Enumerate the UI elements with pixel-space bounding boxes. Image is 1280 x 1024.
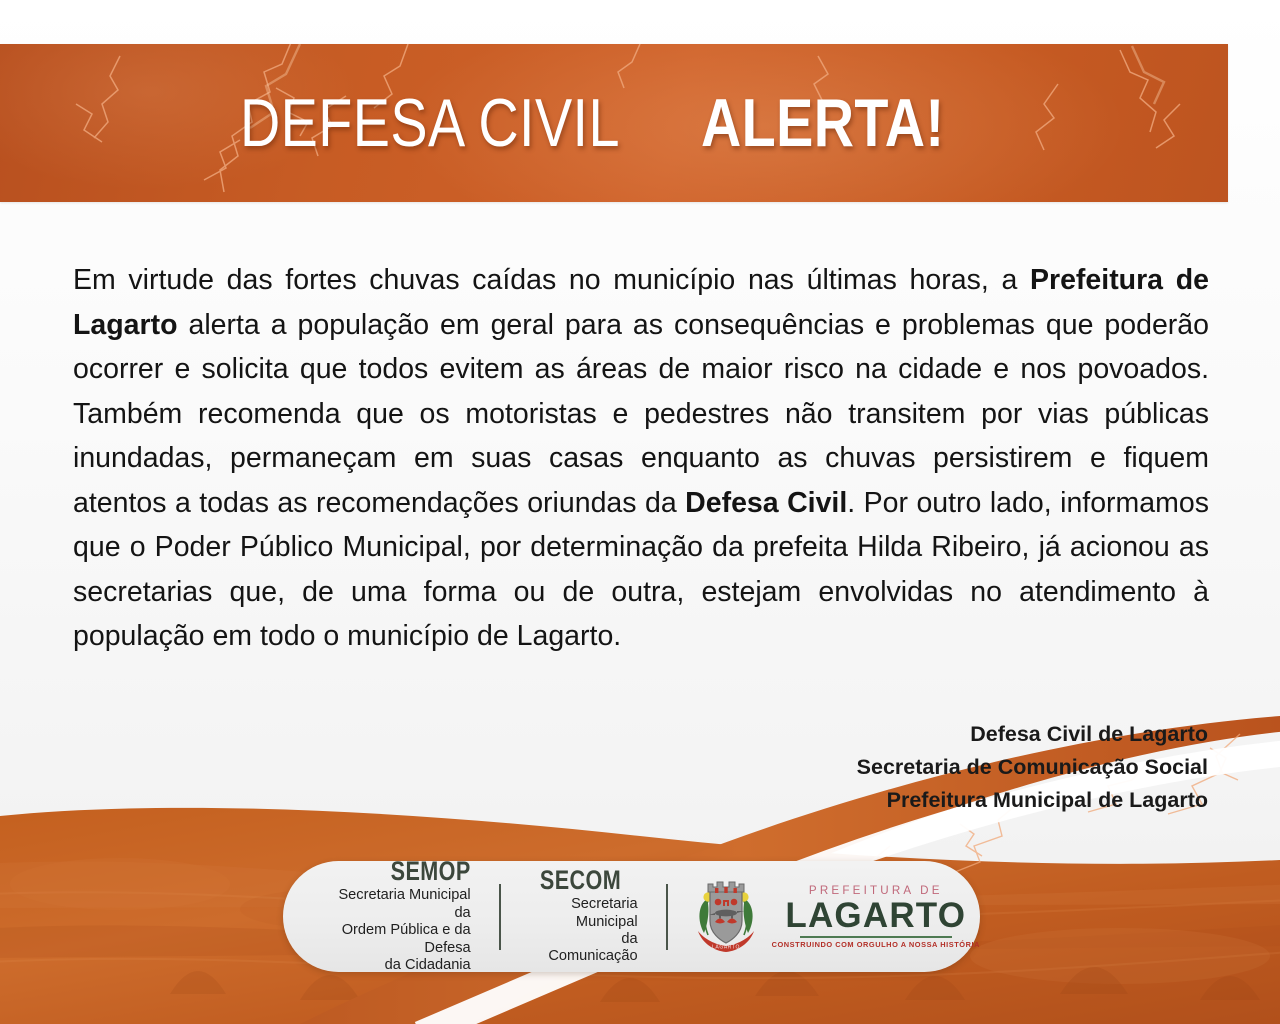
secom-acronym: SECOM <box>540 867 627 894</box>
svg-text:LAGARTO: LAGARTO <box>712 945 740 951</box>
secom-subtitle: Secretaria Municipal da Comunicação <box>529 896 638 966</box>
semop-acronym: SEMOP <box>353 858 471 885</box>
footer-logo-card: SEMOP Secretaria Municipal da Ordem Públ… <box>283 861 980 972</box>
footer-brand-group: SEMOP Secretaria Municipal da Ordem Públ… <box>283 861 980 972</box>
signature-line-3: Prefeitura Municipal de Lagarto <box>508 784 1208 817</box>
lagarto-logo-tagline: CONSTRUINDO COM ORGULHO A NOSSA HISTÓRIA <box>772 940 980 949</box>
page-title: DEFESA CIVILALERTA! <box>0 89 1228 157</box>
alert-poster: DEFESA CIVILALERTA! Em virtude das forte… <box>0 0 1280 1024</box>
lagarto-logo-name: LAGARTO <box>785 898 966 933</box>
alert-body-text: Em virtude das fortes chuvas caídas no m… <box>73 258 1209 659</box>
lagarto-logo-rule <box>800 936 952 938</box>
body-segment-1: Em virtude das fortes chuvas caídas no m… <box>73 264 1030 296</box>
signature-line-1: Defesa Civil de Lagarto <box>508 718 1208 751</box>
secom-brand-block: SECOM Secretaria Municipal da Comunicaçã… <box>513 867 654 966</box>
header-banner: DEFESA CIVILALERTA! <box>0 44 1228 202</box>
lagarto-wordmark-logo: PREFEITURA DE LAGARTO CONSTRUINDO COM OR… <box>772 884 980 949</box>
body-segment-4-bold: Defesa Civil <box>685 487 847 519</box>
coat-of-arms-svg: LAGARTO <box>694 875 758 953</box>
signature-line-2: Secretaria de Comunicação Social <box>508 751 1208 784</box>
semop-brand-block: SEMOP Secretaria Municipal da Ordem Públ… <box>307 858 487 974</box>
coat-of-arms-icon: LAGARTO <box>694 875 758 958</box>
divider-semop-secom <box>499 884 501 950</box>
signature-block: Defesa Civil de Lagarto Secretaria de Co… <box>508 718 1208 817</box>
page-title-light: DEFESA CIVIL <box>240 89 620 157</box>
divider-secom-crest <box>666 884 668 950</box>
semop-subtitle: Secretaria Municipal da Ordem Pública e … <box>323 887 471 974</box>
page-title-bold: ALERTA! <box>701 89 944 157</box>
